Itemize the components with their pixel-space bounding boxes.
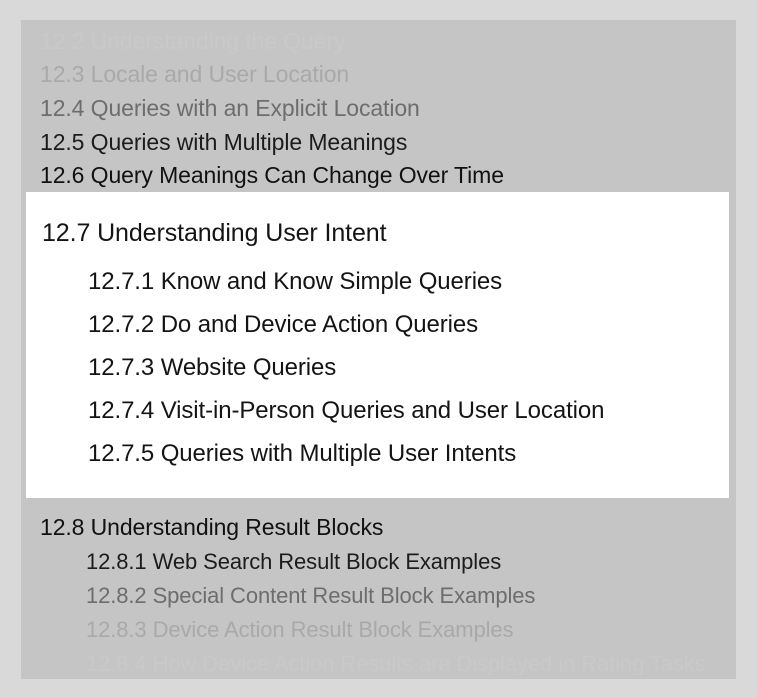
toc-item-12-7-5[interactable]: 12.7.5 Queries with Multiple User Intent…: [88, 440, 516, 468]
toc-item-12-5[interactable]: 12.5 Queries with Multiple Meanings: [40, 129, 407, 156]
toc-item-12-6[interactable]: 12.6 Query Meanings Can Change Over Time: [40, 162, 504, 189]
toc-item-12-3[interactable]: 12.3 Locale and User Location: [40, 61, 349, 88]
toc-item-12-7-heading[interactable]: 12.7 Understanding User Intent: [42, 219, 386, 248]
document-frame: 12.2 Understanding the Query 12.3 Locale…: [0, 0, 757, 698]
toc-item-12-7-1[interactable]: 12.7.1 Know and Know Simple Queries: [88, 268, 502, 296]
toc-item-12-2[interactable]: 12.2 Understanding the Query: [40, 28, 345, 55]
toc-item-12-8-2[interactable]: 12.8.2 Special Content Result Block Exam…: [86, 583, 535, 609]
toc-item-12-8-4[interactable]: 12.8.4 How Device Action Results are Dis…: [86, 651, 705, 677]
toc-item-12-8[interactable]: 12.8 Understanding Result Blocks: [40, 514, 383, 541]
highlighted-section-card: 12.7 Understanding User Intent 12.7.1 Kn…: [26, 192, 729, 498]
toc-item-12-7-3[interactable]: 12.7.3 Website Queries: [88, 354, 336, 382]
toc-item-12-7-4[interactable]: 12.7.4 Visit-in-Person Queries and User …: [88, 397, 604, 425]
toc-item-12-4[interactable]: 12.4 Queries with an Explicit Location: [40, 95, 420, 122]
toc-item-12-8-1[interactable]: 12.8.1 Web Search Result Block Examples: [86, 549, 501, 575]
toc-item-12-7-2[interactable]: 12.7.2 Do and Device Action Queries: [88, 311, 478, 339]
toc-item-12-8-3[interactable]: 12.8.3 Device Action Result Block Exampl…: [86, 617, 513, 643]
